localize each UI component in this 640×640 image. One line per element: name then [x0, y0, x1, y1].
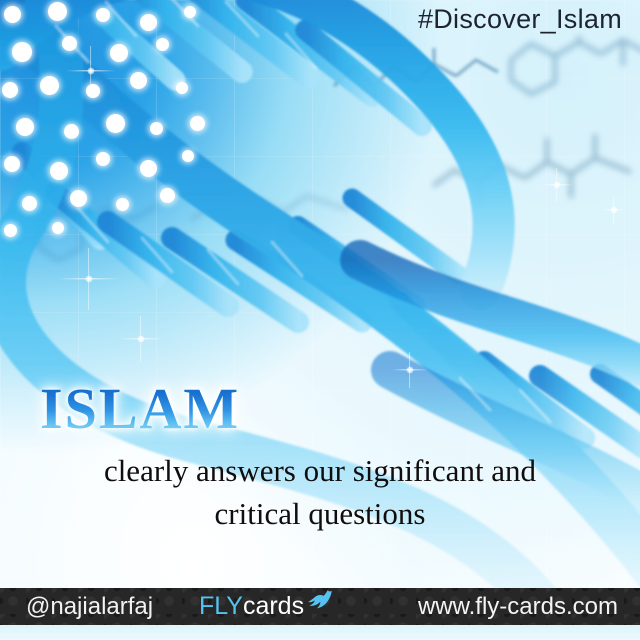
footer-bar: @najialarfaj FLY cards www.fly-cards.com [0, 588, 640, 625]
logo-text-cards: cards [243, 592, 304, 621]
subtitle-line-2: critical questions [0, 493, 640, 534]
discover-islam-card: #Discover_Islam ISLAM clearly answers ou… [0, 0, 640, 640]
bottom-accent-strip [0, 625, 640, 640]
social-handle-label[interactable]: @najialarfaj [26, 593, 153, 621]
page-title: ISLAM [40, 380, 640, 438]
subtitle-line-1: clearly answers our significant and [0, 450, 640, 491]
bokeh-dots-overlay [0, 0, 210, 230]
flycards-logo[interactable]: FLY cards [199, 592, 336, 621]
hashtag-label: #Discover_Islam [418, 4, 622, 35]
website-url-label[interactable]: www.fly-cards.com [418, 593, 618, 621]
headline-block: ISLAM clearly answers our significant an… [0, 380, 640, 534]
bird-icon [306, 589, 336, 618]
logo-text-fly: FLY [199, 592, 243, 621]
